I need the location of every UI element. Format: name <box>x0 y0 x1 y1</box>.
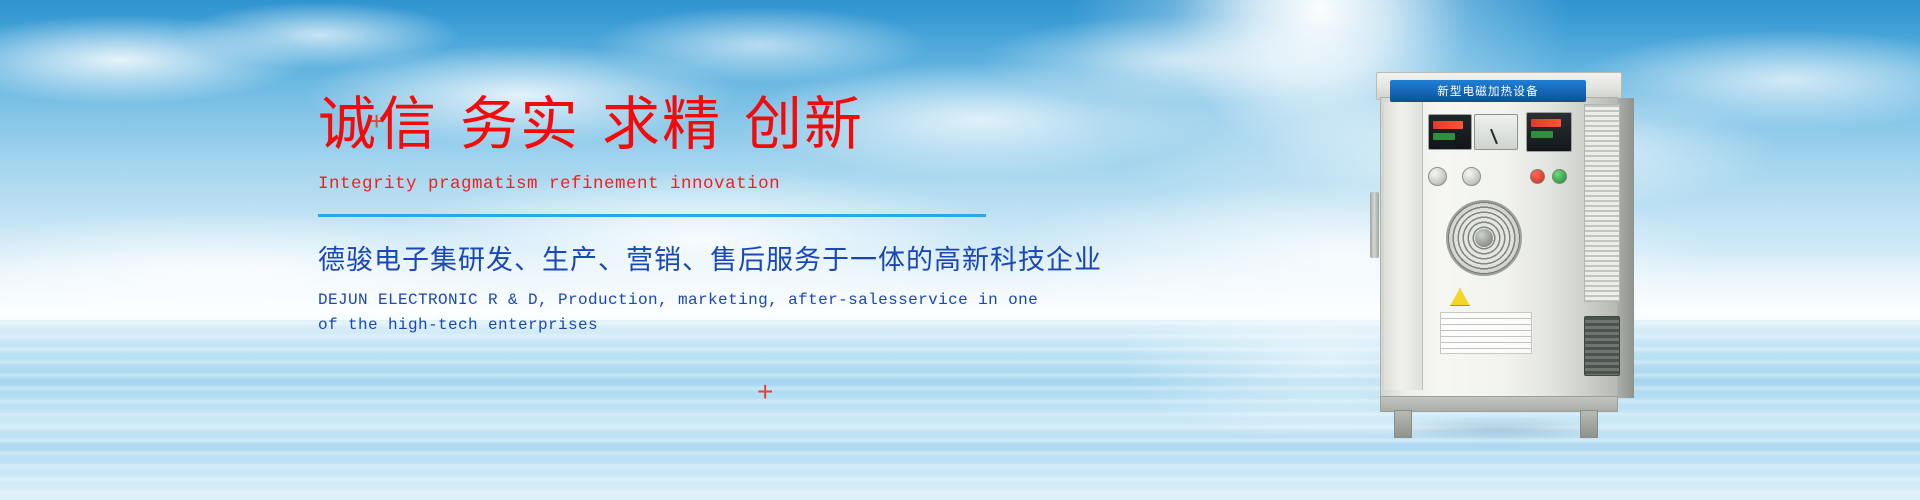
tagline-english-line-1: DEJUN ELECTRONIC R & D, Production, mark… <box>318 288 1078 313</box>
machine-nameplate: 新型电磁加热设备 <box>1390 80 1586 102</box>
cooling-fan-icon <box>1446 200 1522 276</box>
green-indicator-icon <box>1552 169 1567 184</box>
machine-side-panel <box>1618 98 1634 398</box>
digital-display-left <box>1428 114 1472 150</box>
headline-word-3: 求精 <box>602 92 722 157</box>
machine-control-panel <box>1426 110 1578 156</box>
machine-left-door-panel <box>1384 102 1423 390</box>
digital-display-right <box>1526 112 1572 152</box>
machine-spec-plate <box>1440 312 1532 354</box>
machine-handle <box>1370 192 1379 258</box>
tagline-english: DEJUN ELECTRONIC R & D, Production, mark… <box>318 288 1078 338</box>
machine-leg-left <box>1394 410 1412 438</box>
machine-leg-right <box>1580 410 1598 438</box>
control-knob-icon <box>1462 167 1481 186</box>
machine-exhaust-grille <box>1584 316 1620 376</box>
display-segment-red <box>1433 121 1463 129</box>
headline-subtitle-english: Integrity pragmatism refinement innovati… <box>318 174 1078 194</box>
machine-nameplate-text: 新型电磁加热设备 <box>1437 83 1539 99</box>
red-indicator-icon <box>1530 169 1545 184</box>
analog-gauge <box>1474 114 1518 150</box>
display-segment-green <box>1433 133 1455 140</box>
plus-mark-icon: + <box>757 378 773 406</box>
fan-hub <box>1475 229 1493 247</box>
promo-banner: + + 诚信务实求精创新 Integrity pragmatism refine… <box>0 0 1920 500</box>
machine-vent-louvers <box>1584 104 1620 302</box>
tagline-english-line-2: of the high-tech enterprises <box>318 313 1078 338</box>
divider-rule <box>318 214 986 217</box>
product-image-induction-heater: 新型电磁加热设备 <box>1368 72 1634 432</box>
banner-text-block: 诚信务实求精创新 Integrity pragmatism refinement… <box>318 96 1078 338</box>
headline: 诚信务实求精创新 <box>318 96 1078 154</box>
headline-word-1: 诚信 <box>318 92 438 157</box>
gauge-needle-icon <box>1490 129 1497 144</box>
display-segment-green <box>1531 131 1553 138</box>
product-shadow <box>1348 412 1648 446</box>
tagline-chinese: 德骏电子集研发、生产、营销、售后服务于一体的高新科技企业 <box>318 238 1078 277</box>
headline-word-4: 创新 <box>744 92 864 157</box>
headline-word-2: 务实 <box>460 92 580 157</box>
control-knob-icon <box>1428 167 1447 186</box>
display-segment-red <box>1531 119 1561 127</box>
machine-knob-row <box>1426 164 1578 190</box>
